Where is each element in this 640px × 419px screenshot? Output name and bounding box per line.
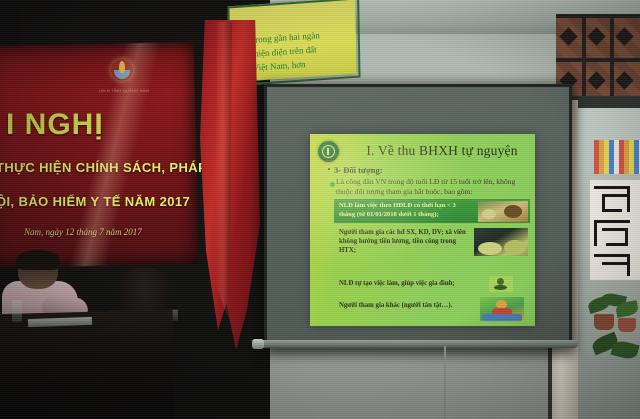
seated-attendee-hair xyxy=(16,250,60,270)
screen-stand-pole xyxy=(444,346,446,419)
slide-item-3-text: NLĐ tự tạo việc làm, giúp việc gia đình; xyxy=(339,280,479,287)
photo-scene: Trong gần hai ngàn năm hiện diện trên đấ… xyxy=(0,0,640,419)
slide-subtitle: 3- Đối tượng: xyxy=(334,165,383,175)
banner-logo-caption: LĐLĐ TỈNH QUẢNG NAM xyxy=(98,88,150,96)
banner-line-1: I NGHỊ xyxy=(6,108,104,142)
greek-key-wall-pattern xyxy=(590,180,640,280)
slide-item-4-text: Người tham gia khác (người tàn tật…). xyxy=(339,302,484,309)
union-logo-icon xyxy=(105,58,139,88)
slide-item-2-text: Người tham gia các hđ SX, KD, DV; xã viê… xyxy=(339,228,467,255)
slide-thumbnail-4 xyxy=(480,297,524,321)
slide-body-text: Là công dân VN trong độ tuổi LĐ từ 15 tu… xyxy=(336,177,528,197)
banner-line-3: ỘI, BẢO HIỂM Y TẾ NĂM 2017 xyxy=(0,194,190,209)
slide-thumbnail-2 xyxy=(474,228,528,256)
banner-date-line: Nam, ngày 12 tháng 7 năm 2017 xyxy=(24,227,142,237)
screen-bottom-bar xyxy=(258,340,578,348)
drinking-glass xyxy=(12,300,22,322)
potted-plants xyxy=(586,292,640,374)
bullet-dot-icon xyxy=(328,168,330,170)
buddhist-flag-bunting xyxy=(594,140,640,174)
slide-title: I. Về thu BHXH tự nguyện xyxy=(352,143,532,159)
green-laser-dot-icon xyxy=(330,182,335,187)
bhxh-logo-stem xyxy=(327,148,329,155)
slide-item-1-text: NLĐ làm việc theo HĐLĐ có thời hạn < 3 t… xyxy=(339,202,464,219)
conference-table xyxy=(0,310,175,419)
screen-roller-knob xyxy=(252,339,264,349)
slide-thumbnail-3 xyxy=(489,276,513,292)
slide-thumbnail-1 xyxy=(478,201,528,222)
